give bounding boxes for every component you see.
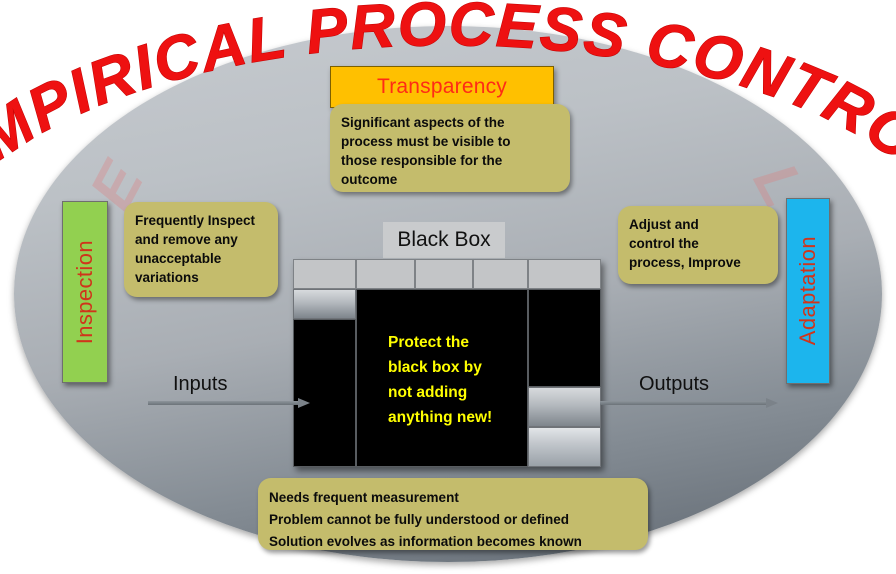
- black-box-message-line-4: anything new!: [388, 405, 538, 430]
- inspection-line-4: variations: [135, 268, 267, 287]
- footer-notes: Needs frequent measurement Problem canno…: [258, 478, 648, 550]
- adaptation-description: Adjust and control the process, Improve: [618, 206, 778, 284]
- black-box-message-line-2: black box by: [388, 355, 538, 380]
- black-box-header-cell: [293, 259, 356, 289]
- black-box-gradient-cell: [528, 387, 601, 427]
- transparency-line-3: those responsible for the: [341, 151, 559, 170]
- inspection-line-1: Frequently Inspect: [135, 211, 267, 230]
- inputs-label: Inputs: [173, 373, 227, 396]
- transparency-line-2: process must be visible to: [341, 132, 559, 151]
- arrow-head: [298, 398, 310, 408]
- black-box-header-cell: [528, 259, 601, 289]
- black-box-gradient-cell: [293, 289, 356, 319]
- inspection-label[interactable]: Inspection: [62, 201, 108, 383]
- black-box-message: Protect the black box by not adding anyt…: [388, 330, 538, 430]
- footer-line-2: Problem cannot be fully understood or de…: [269, 509, 637, 531]
- transparency-label[interactable]: Transparency: [330, 66, 554, 108]
- footer-line-3: Solution evolves as information becomes …: [269, 531, 637, 553]
- outputs-arrow-icon: [600, 398, 778, 408]
- black-box-header-cell: [415, 259, 473, 289]
- inspection-line-3: unacceptable: [135, 249, 267, 268]
- arrow-shaft: [600, 401, 766, 405]
- adaptation-line-2: control the: [629, 234, 767, 253]
- inspection-label-text: Inspection: [72, 240, 98, 344]
- black-box-header-cell: [356, 259, 415, 289]
- inspection-line-2: and remove any: [135, 230, 267, 249]
- black-box-label-text: Black Box: [397, 228, 490, 252]
- black-box-message-line-3: not adding: [388, 380, 538, 405]
- adaptation-line-3: process, Improve: [629, 253, 767, 272]
- black-box-header-cell: [473, 259, 528, 289]
- black-box-label: Black Box: [383, 222, 505, 258]
- black-box-dark-cell: [528, 289, 601, 387]
- transparency-label-text: Transparency: [377, 75, 507, 99]
- transparency-description: Significant aspects of the process must …: [330, 104, 570, 192]
- inspection-description: Frequently Inspect and remove any unacce…: [124, 202, 278, 297]
- outputs-label: Outputs: [639, 373, 709, 396]
- arrow-shaft: [148, 401, 298, 405]
- black-box-gradient-cell: [528, 427, 601, 467]
- arrow-head: [766, 398, 778, 408]
- diagram-canvas: E L EMPIRICAL PROCESS CONTROL Transparen…: [0, 0, 896, 574]
- adaptation-label-text: Adaptation: [795, 236, 821, 345]
- footer-line-1: Needs frequent measurement: [269, 487, 637, 509]
- transparency-line-4: outcome: [341, 170, 559, 189]
- adaptation-label[interactable]: Adaptation: [786, 198, 830, 384]
- black-box-dark-cell: [293, 319, 356, 467]
- inputs-arrow-icon: [148, 398, 310, 408]
- transparency-line-1: Significant aspects of the: [341, 113, 559, 132]
- black-box-message-line-1: Protect the: [388, 330, 538, 355]
- adaptation-line-1: Adjust and: [629, 215, 767, 234]
